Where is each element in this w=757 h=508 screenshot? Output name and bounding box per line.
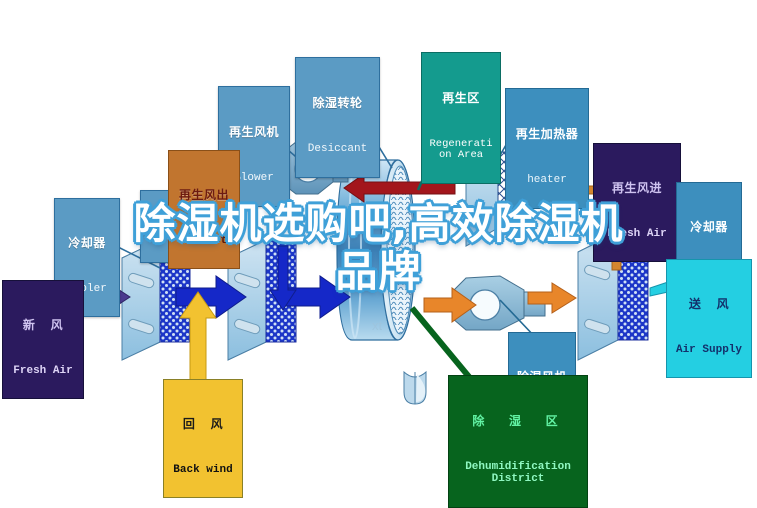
label-desiccant[interactable]: 除湿转轮 Desiccant (295, 57, 380, 178)
label-exhaust-cn: 再生风出 (171, 189, 237, 202)
label-fresh-air-in-cn: 新 风 (5, 319, 81, 332)
label-exhaust-en: Exhaust (171, 236, 237, 248)
label-regen-area[interactable]: 再生区 Regenerati on Area (421, 52, 501, 184)
label-fresh-air-in-en: Fresh Air (5, 366, 81, 378)
label-regen-heater-cn: 再生加热器 (508, 128, 586, 141)
label-air-supply[interactable]: 送 风 Air Supply (666, 259, 752, 378)
label-cooler-right-cn: 冷却器 (679, 221, 739, 234)
label-regen-blower-cn: 再生风机 (221, 126, 287, 139)
label-exhaust[interactable]: 再生风出 Exhaust (168, 150, 240, 269)
label-desiccant-en: Desiccant (298, 144, 377, 156)
label-dehum-district-en: Dehumidification District (451, 462, 585, 486)
label-back-wind[interactable]: 回 风 Back wind (163, 379, 243, 498)
label-cooler-left-a-cn: 冷却器 (57, 237, 117, 250)
label-regen-heater-en: heater (508, 175, 586, 187)
label-regen-fresh-air-en: Fresh Air (596, 229, 678, 241)
rotor-watermark: xt (372, 318, 383, 333)
label-regen-area-cn: 再生区 (424, 92, 498, 105)
label-desiccant-cn: 除湿转轮 (298, 97, 377, 110)
label-regen-fresh-air-cn: 再生风进 (596, 182, 678, 195)
label-regen-fresh-air[interactable]: 再生风进 Fresh Air (593, 143, 681, 262)
label-fresh-air-in[interactable]: 新 风 Fresh Air (2, 280, 84, 399)
drain (404, 372, 426, 404)
label-regen-area-en: Regenerati on Area (424, 139, 498, 162)
label-regen-heater[interactable]: 再生加热器 heater (505, 88, 589, 209)
diagram-canvas: xt (0, 0, 757, 488)
label-back-wind-cn: 回 风 (166, 418, 240, 431)
label-air-supply-cn: 送 风 (669, 298, 749, 311)
label-dehum-district[interactable]: 除 湿 区 Dehumidification District (448, 375, 588, 508)
label-back-wind-en: Back wind (166, 465, 240, 477)
label-dehum-district-cn: 除 湿 区 (451, 415, 585, 428)
label-air-supply-en: Air Supply (669, 345, 749, 357)
